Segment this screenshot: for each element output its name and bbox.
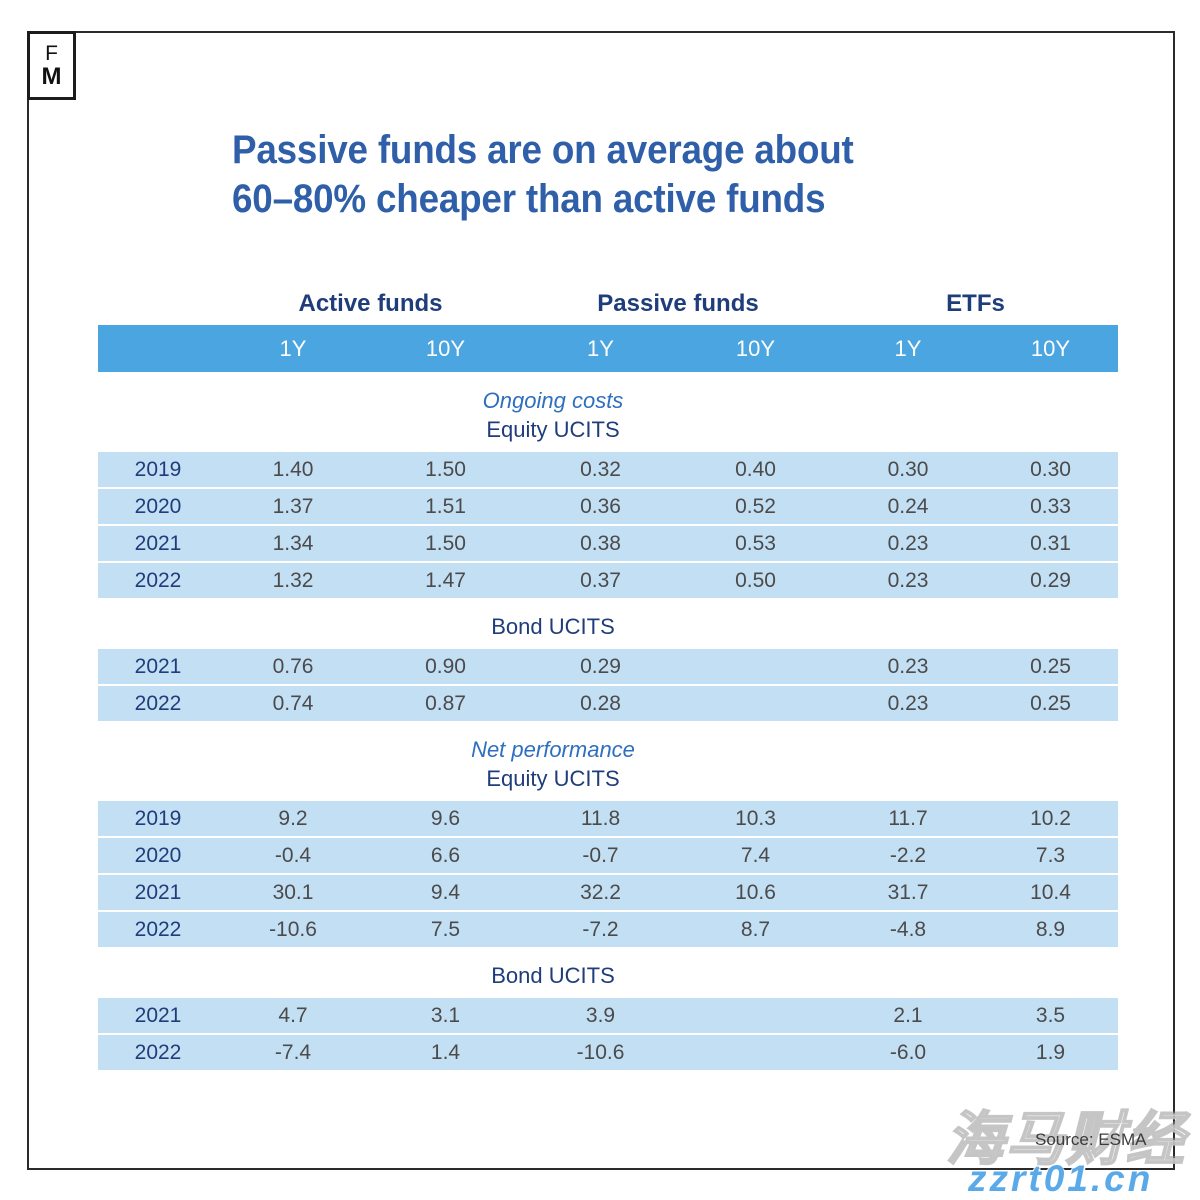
fm-logo: F M <box>27 31 76 100</box>
cell-active-10y: 1.50 <box>368 458 523 482</box>
cell-etf-1y: -2.2 <box>833 844 983 868</box>
section-3-plain-label: Bond UCITS <box>98 961 1008 990</box>
cell-passive-10y: 8.7 <box>678 918 833 942</box>
section-1-plain-label: Bond UCITS <box>98 612 1008 641</box>
cell-etf-1y: 0.23 <box>833 655 983 679</box>
row-year: 2019 <box>98 807 218 831</box>
cell-passive-1y: -0.7 <box>523 844 678 868</box>
row-year: 2020 <box>98 495 218 519</box>
cell-etf-1y: -6.0 <box>833 1041 983 1065</box>
table-row: 2022 1.32 1.47 0.37 0.50 0.23 0.29 <box>98 563 1118 598</box>
row-year: 2022 <box>98 569 218 593</box>
row-year: 2021 <box>98 532 218 556</box>
cell-passive-1y: 0.37 <box>523 569 678 593</box>
cell-passive-10y: 0.40 <box>678 458 833 482</box>
cell-etf-10y: 7.3 <box>983 844 1118 868</box>
cell-passive-10y: 0.53 <box>678 532 833 556</box>
section-caption-3: Bond UCITS <box>98 947 1118 990</box>
section-2-italic-label: Net performance <box>98 735 1008 764</box>
cell-etf-10y: 0.31 <box>983 532 1118 556</box>
cell-etf-1y: 11.7 <box>833 807 983 831</box>
cell-passive-1y: 0.29 <box>523 655 678 679</box>
cell-etf-10y: 1.9 <box>983 1041 1118 1065</box>
cell-active-10y: 0.90 <box>368 655 523 679</box>
section-1-rows: 2021 0.76 0.90 0.29 0.23 0.25 2022 0.74 … <box>98 649 1118 721</box>
sub-header-active-10y: 10Y <box>368 336 523 362</box>
cell-active-1y: 1.34 <box>218 532 368 556</box>
cell-active-10y: 6.6 <box>368 844 523 868</box>
table-row: 2022 -10.6 7.5 -7.2 8.7 -4.8 8.9 <box>98 912 1118 947</box>
cell-active-10y: 9.6 <box>368 807 523 831</box>
table-row: 2020 1.37 1.51 0.36 0.52 0.24 0.33 <box>98 489 1118 526</box>
sub-header-active-1y: 1Y <box>218 336 368 362</box>
cell-active-1y: 1.40 <box>218 458 368 482</box>
table-row: 2022 0.74 0.87 0.28 0.23 0.25 <box>98 686 1118 721</box>
cell-active-10y: 9.4 <box>368 881 523 905</box>
table-row: 2022 -7.4 1.4 -10.6 -6.0 1.9 <box>98 1035 1118 1070</box>
cell-active-10y: 1.51 <box>368 495 523 519</box>
cell-passive-1y: 0.38 <box>523 532 678 556</box>
cell-active-1y: -0.4 <box>218 844 368 868</box>
cell-etf-1y: 0.30 <box>833 458 983 482</box>
table-group-header-row: Active funds Passive funds ETFs <box>98 283 1118 325</box>
row-year: 2022 <box>98 1041 218 1065</box>
row-year: 2022 <box>98 918 218 942</box>
cell-passive-1y: 32.2 <box>523 881 678 905</box>
sub-header-passive-1y: 1Y <box>523 336 678 362</box>
cell-passive-1y: 3.9 <box>523 1004 678 1028</box>
cell-passive-10y: 0.50 <box>678 569 833 593</box>
cell-passive-1y: 0.28 <box>523 692 678 716</box>
source-note: Source: ESMA <box>1035 1130 1147 1150</box>
page-title: Passive funds are on average about 60–80… <box>232 126 1042 224</box>
title-line-1: Passive funds are on average about <box>232 126 1042 175</box>
section-0-rows: 2019 1.40 1.50 0.32 0.40 0.30 0.30 2020 … <box>98 452 1118 598</box>
cell-active-10y: 7.5 <box>368 918 523 942</box>
sub-header-etf-1y: 1Y <box>833 336 983 362</box>
cell-etf-10y: 0.25 <box>983 655 1118 679</box>
section-0-italic-label: Ongoing costs <box>98 386 1008 415</box>
cell-active-1y: 30.1 <box>218 881 368 905</box>
cell-passive-1y: 0.36 <box>523 495 678 519</box>
table-row: 2019 1.40 1.50 0.32 0.40 0.30 0.30 <box>98 452 1118 489</box>
table-row: 2021 1.34 1.50 0.38 0.53 0.23 0.31 <box>98 526 1118 563</box>
cell-etf-10y: 10.4 <box>983 881 1118 905</box>
section-3-rows: 2021 4.7 3.1 3.9 2.1 3.5 2022 -7.4 1.4 -… <box>98 998 1118 1070</box>
row-year: 2021 <box>98 1004 218 1028</box>
cell-passive-1y: 11.8 <box>523 807 678 831</box>
row-year: 2020 <box>98 844 218 868</box>
cell-passive-10y: 10.3 <box>678 807 833 831</box>
cell-active-1y: 0.76 <box>218 655 368 679</box>
cell-passive-10y: 0.52 <box>678 495 833 519</box>
group-header-active-funds: Active funds <box>218 290 523 318</box>
cell-passive-1y: -7.2 <box>523 918 678 942</box>
cell-active-10y: 1.50 <box>368 532 523 556</box>
cell-passive-1y: 0.32 <box>523 458 678 482</box>
sub-header-etf-10y: 10Y <box>983 336 1118 362</box>
cell-active-1y: 9.2 <box>218 807 368 831</box>
table-row: 2019 9.2 9.6 11.8 10.3 11.7 10.2 <box>98 801 1118 838</box>
cell-etf-1y: 0.23 <box>833 532 983 556</box>
cell-etf-1y: 2.1 <box>833 1004 983 1028</box>
cell-active-1y: 1.32 <box>218 569 368 593</box>
table-sub-header-row: 1Y 10Y 1Y 10Y 1Y 10Y <box>98 325 1118 372</box>
table-row: 2021 0.76 0.90 0.29 0.23 0.25 <box>98 649 1118 686</box>
cell-active-10y: 1.47 <box>368 569 523 593</box>
title-line-2: 60–80% cheaper than active funds <box>232 175 1042 224</box>
table-row: 2021 30.1 9.4 32.2 10.6 31.7 10.4 <box>98 875 1118 912</box>
cell-active-10y: 3.1 <box>368 1004 523 1028</box>
cell-active-1y: 4.7 <box>218 1004 368 1028</box>
cell-passive-1y: -10.6 <box>523 1041 678 1065</box>
cell-etf-10y: 0.25 <box>983 692 1118 716</box>
cell-active-1y: 0.74 <box>218 692 368 716</box>
section-caption-1: Bond UCITS <box>98 598 1118 641</box>
row-year: 2019 <box>98 458 218 482</box>
cell-active-1y: -10.6 <box>218 918 368 942</box>
group-header-etfs: ETFs <box>833 290 1118 318</box>
cell-etf-10y: 0.29 <box>983 569 1118 593</box>
section-caption-2: Net performance Equity UCITS <box>98 721 1118 793</box>
cell-etf-10y: 0.33 <box>983 495 1118 519</box>
section-0-plain-label: Equity UCITS <box>98 415 1008 444</box>
cell-etf-1y: 0.23 <box>833 569 983 593</box>
cell-etf-10y: 0.30 <box>983 458 1118 482</box>
cell-active-10y: 0.87 <box>368 692 523 716</box>
row-year: 2022 <box>98 692 218 716</box>
section-caption-0: Ongoing costs Equity UCITS <box>98 372 1118 444</box>
row-year: 2021 <box>98 655 218 679</box>
cell-etf-1y: -4.8 <box>833 918 983 942</box>
logo-letter-m: M <box>42 65 62 89</box>
cell-passive-10y: 7.4 <box>678 844 833 868</box>
table-row: 2021 4.7 3.1 3.9 2.1 3.5 <box>98 998 1118 1035</box>
cell-etf-1y: 31.7 <box>833 881 983 905</box>
cell-etf-1y: 0.23 <box>833 692 983 716</box>
logo-letter-f: F <box>45 43 58 64</box>
cell-etf-10y: 10.2 <box>983 807 1118 831</box>
sub-header-passive-10y: 10Y <box>678 336 833 362</box>
cell-active-10y: 1.4 <box>368 1041 523 1065</box>
cell-passive-10y: 10.6 <box>678 881 833 905</box>
section-2-rows: 2019 9.2 9.6 11.8 10.3 11.7 10.2 2020 -0… <box>98 801 1118 947</box>
row-year: 2021 <box>98 881 218 905</box>
data-table: Active funds Passive funds ETFs 1Y 10Y 1… <box>98 283 1118 1070</box>
cell-etf-1y: 0.24 <box>833 495 983 519</box>
cell-etf-10y: 8.9 <box>983 918 1118 942</box>
cell-active-1y: 1.37 <box>218 495 368 519</box>
cell-active-1y: -7.4 <box>218 1041 368 1065</box>
group-header-passive-funds: Passive funds <box>523 290 833 318</box>
table-row: 2020 -0.4 6.6 -0.7 7.4 -2.2 7.3 <box>98 838 1118 875</box>
cell-etf-10y: 3.5 <box>983 1004 1118 1028</box>
section-2-plain-label: Equity UCITS <box>98 764 1008 793</box>
